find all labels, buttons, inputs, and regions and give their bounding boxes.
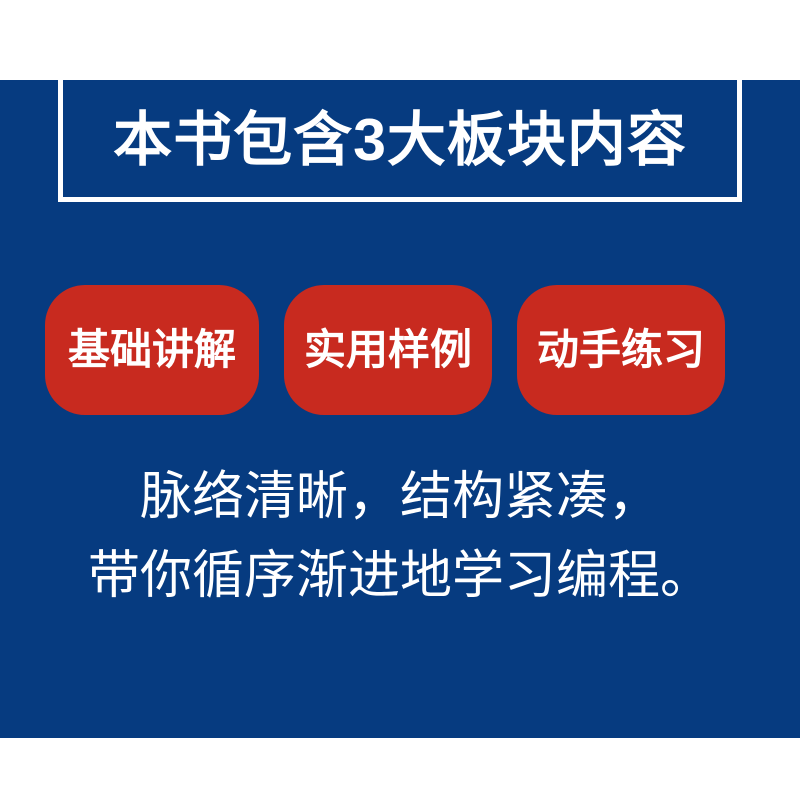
section-pill-row: 基础讲解 实用样例 动手练习 xyxy=(45,285,725,415)
tagline-block: 脉络清晰，结构紧凑， 带你循序渐进地学习编程。 xyxy=(0,458,800,616)
poster-root: 本书包含3大板块内容 基础讲解 实用样例 动手练习 脉络清晰，结构紧凑， 带你循… xyxy=(0,0,800,800)
section-pill-practice[interactable]: 动手练习 xyxy=(517,285,725,415)
section-pill-label: 动手练习 xyxy=(537,329,705,371)
blue-panel: 本书包含3大板块内容 基础讲解 实用样例 动手练习 脉络清晰，结构紧凑， 带你循… xyxy=(0,80,800,738)
section-pill-basics[interactable]: 基础讲解 xyxy=(45,285,259,415)
page-title: 本书包含3大板块内容 xyxy=(113,111,687,170)
tagline-line-1: 脉络清晰，结构紧凑， xyxy=(0,458,800,537)
title-frame: 本书包含3大板块内容 xyxy=(58,80,742,202)
section-pill-label: 实用样例 xyxy=(304,329,472,371)
section-pill-examples[interactable]: 实用样例 xyxy=(284,285,492,415)
section-pill-label: 基础讲解 xyxy=(68,329,236,371)
tagline-line-2: 带你循序渐进地学习编程。 xyxy=(0,537,800,616)
